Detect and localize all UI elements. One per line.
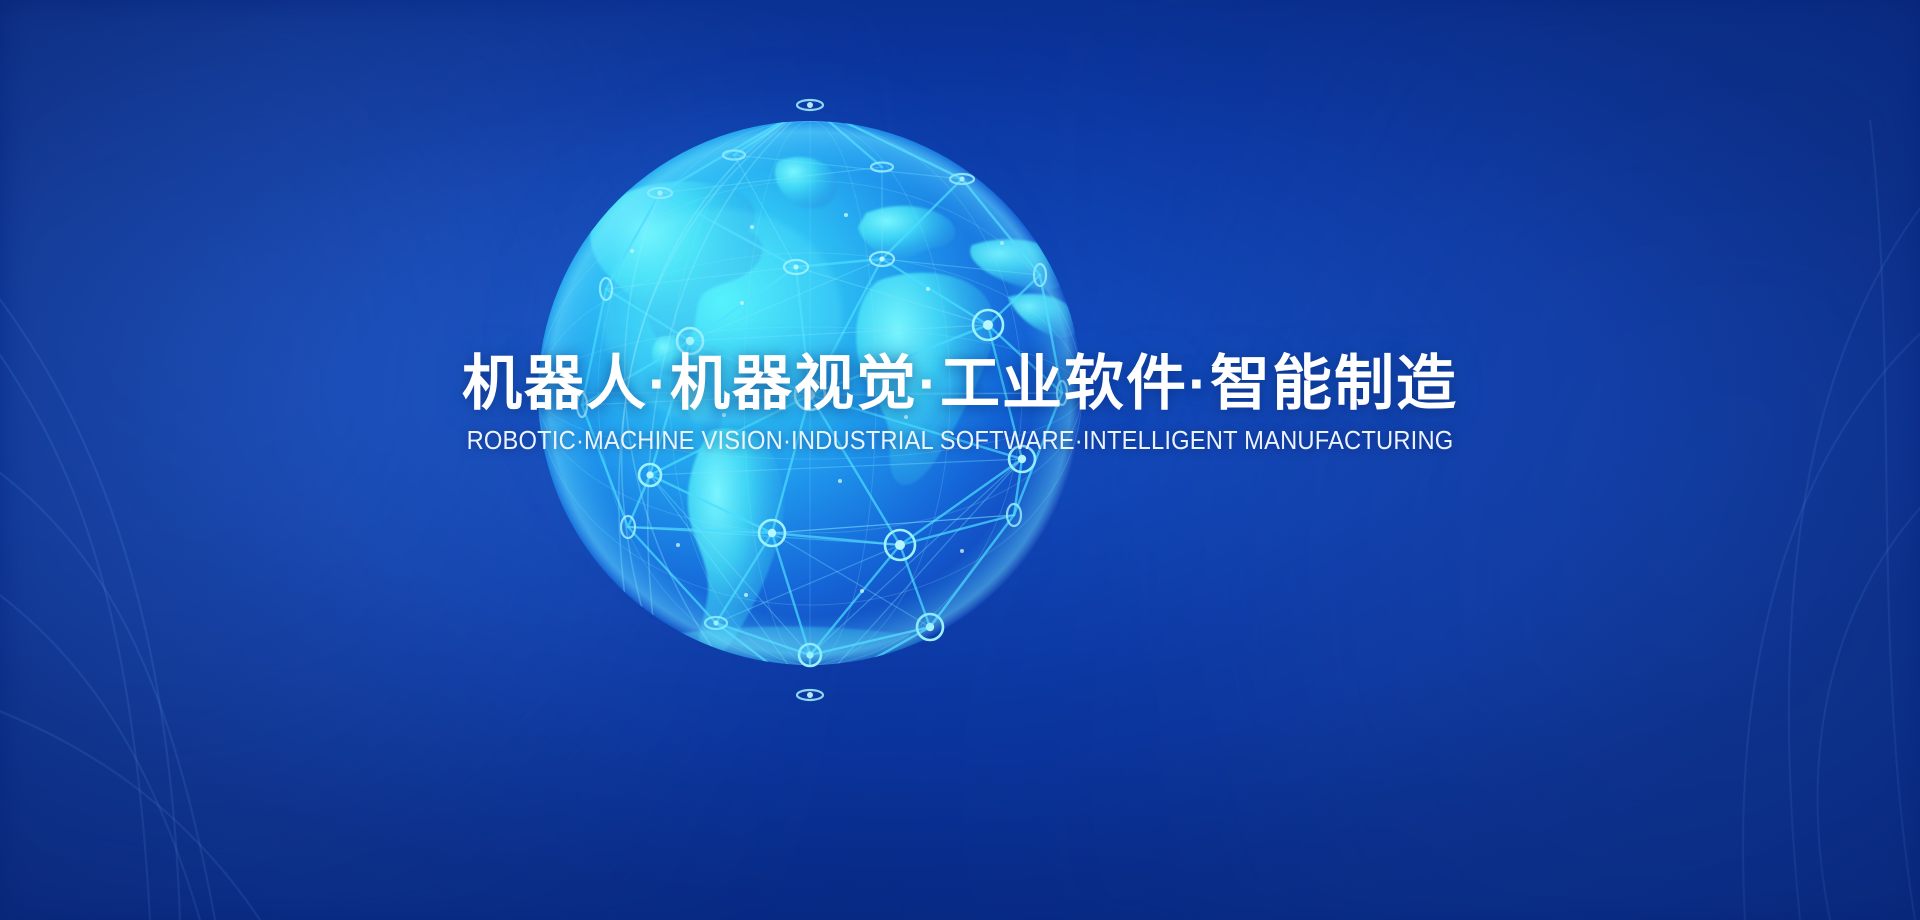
page-subtitle: ROBOTIC·MACHINE VISION·INDUSTRIAL SOFTWA… xyxy=(444,427,1476,456)
page-title: 机器人·机器视觉·工业软件·智能制造 xyxy=(405,352,1515,417)
hero-text-block: 机器人·机器视觉·工业软件·智能制造 ROBOTIC·MACHINE VISIO… xyxy=(405,352,1515,456)
banner-hero: 机器人·机器视觉·工业软件·智能制造 ROBOTIC·MACHINE VISIO… xyxy=(0,0,1920,920)
